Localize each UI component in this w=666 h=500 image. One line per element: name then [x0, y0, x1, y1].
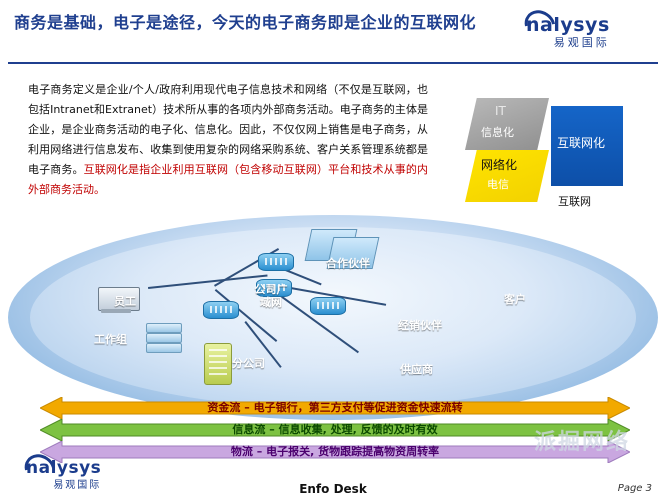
router-left	[203, 301, 239, 319]
paragraph-highlight: 互联网化是指企业利用互联网（包含移动互联网）平台和技术从事的内外部商务活动。	[28, 163, 428, 196]
person-customer-3	[568, 319, 590, 345]
caption-workgroup: 工作组	[94, 331, 127, 347]
flow-capital: 资金流 – 电子银行，第三方支付等促进资金快速流转	[40, 397, 630, 419]
caption-dealer: 经销伙伴	[398, 317, 442, 333]
person-employee-top	[154, 243, 176, 269]
person-supplier	[364, 329, 386, 355]
footer-title: Enfo Desk	[0, 482, 666, 496]
cube-it-label: IT	[495, 104, 506, 118]
caption-branch: 分公司	[232, 355, 265, 371]
caption-customer: 客户	[504, 291, 526, 307]
person-customer-1	[524, 317, 546, 343]
caption-supplier: 供应商	[400, 361, 433, 377]
cube-face-internet: 互联网化	[551, 106, 623, 186]
capital-flow-label: 资金流 – 电子银行，第三方支付等促进资金快速流转	[40, 397, 630, 419]
person-dealer-2	[438, 291, 460, 317]
person-supplier-2	[406, 333, 428, 359]
cube-face-network: 网络化 电信	[465, 150, 549, 202]
pc-employee-top	[174, 253, 200, 273]
cube-internet-bottom-label: 互联网	[558, 193, 591, 209]
caption-company-wan: 公司广域网	[251, 283, 291, 309]
maturity-cube-diagram: IT 信息化 网络化 电信 互联网化 互联网	[455, 90, 660, 230]
logo-analysys-top: nalysys 易观国际	[508, 6, 658, 54]
title-divider	[8, 62, 658, 64]
branch-server	[204, 343, 232, 385]
cube-it-sublabel: 信息化	[481, 124, 514, 140]
slide: 商务是基础，电子是途径，今天的电子商务即是企业的互联网化 nalysys 易观国…	[0, 0, 666, 500]
body-paragraph: 电子商务定义是企业/个人/政府利用现代电子信息技术和网络（不仅是互联网，也包括I…	[28, 80, 428, 200]
router-right	[310, 297, 346, 315]
pc-dealer	[432, 269, 458, 289]
workgroup-stack	[146, 323, 184, 353]
caption-partner: 合作伙伴	[326, 255, 370, 271]
cube-network-sublabel: 电信	[487, 176, 509, 192]
router-top	[258, 253, 294, 271]
page-title: 商务是基础，电子是途径，今天的电子商务即是企业的互联网化	[14, 10, 494, 35]
page-number: Page 3	[618, 483, 652, 494]
cube-internet-label: 互联网化	[557, 134, 605, 151]
watermark: 派掘网络	[534, 424, 630, 456]
cube-network-label: 网络化	[481, 156, 517, 173]
person-dealer	[412, 261, 434, 287]
cube-face-it: IT 信息化	[465, 98, 549, 150]
person-customer-2	[546, 313, 568, 339]
caption-employee: 员工	[114, 293, 136, 309]
